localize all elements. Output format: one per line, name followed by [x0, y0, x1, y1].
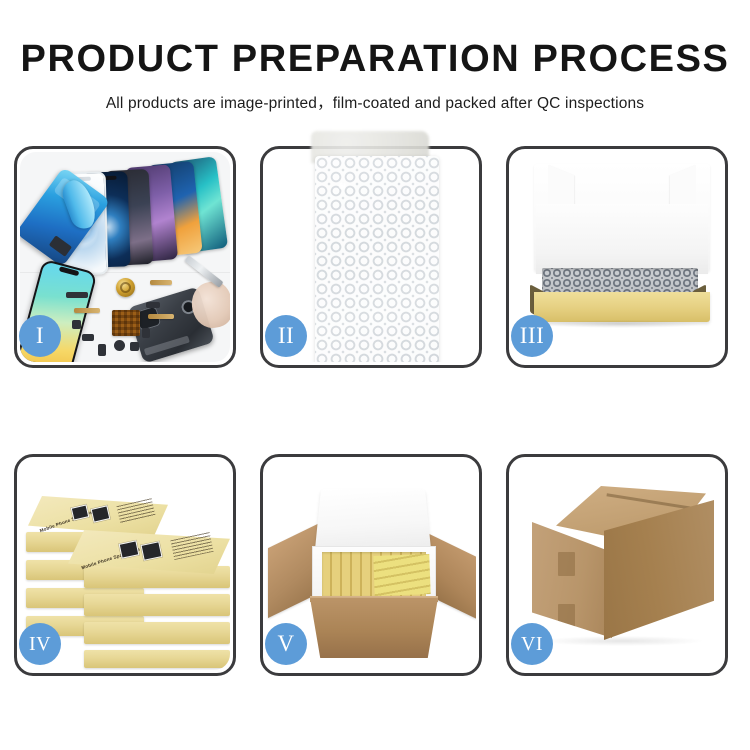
stacked-box: [84, 594, 230, 616]
carton-body: [310, 598, 438, 658]
page-header: PRODUCT PREPARATION PROCESS All products…: [0, 0, 750, 113]
step-numeral-badge-2: II: [265, 315, 307, 357]
small-part: [98, 344, 106, 356]
small-part: [142, 328, 150, 338]
step-numeral-badge-5: V: [265, 623, 307, 665]
small-part: [130, 342, 139, 351]
small-part: [114, 340, 125, 351]
copper-coil-part: [116, 278, 135, 297]
flex-cable-part: [74, 308, 100, 313]
process-step-card-1: I: [14, 146, 236, 368]
kraft-box-front: [534, 292, 710, 322]
carton-tape: [558, 552, 575, 576]
inner-boxes-yellow: [373, 554, 430, 596]
bga-chip-part: [112, 310, 140, 336]
foam-lining: [536, 204, 708, 274]
page-title: PRODUCT PREPARATION PROCESS: [0, 0, 750, 80]
stacked-box: [84, 650, 230, 668]
process-step-card-2: II: [260, 146, 482, 368]
step-numeral-badge-1: I: [19, 315, 61, 357]
process-step-card-6: VI: [506, 454, 728, 676]
small-part: [82, 334, 94, 341]
bubble-wrap-bag: [315, 156, 439, 362]
small-part: [146, 302, 160, 308]
step-numeral-badge-4: IV: [19, 623, 61, 665]
process-step-card-5: V: [260, 454, 482, 676]
page-subtitle: All products are image-printed，film-coat…: [0, 80, 750, 113]
step-numeral-badge-6: VI: [511, 623, 553, 665]
process-step-grid: I II III: [14, 146, 736, 676]
small-part: [66, 292, 88, 298]
process-step-card-3: III: [506, 146, 728, 368]
carton-left-face: [532, 522, 612, 638]
styrofoam-lid: [315, 489, 432, 553]
small-part: [72, 320, 81, 329]
flex-cable-part: [150, 280, 172, 285]
carton-tape: [558, 604, 575, 628]
stacked-box: [84, 622, 230, 644]
step-numeral-badge-3: III: [511, 315, 553, 357]
process-step-card-4: Mobile Phone Spare Parts Mobile Phone Sp…: [14, 454, 236, 676]
flex-cable-part: [148, 314, 174, 319]
sealed-carton: [532, 486, 714, 642]
